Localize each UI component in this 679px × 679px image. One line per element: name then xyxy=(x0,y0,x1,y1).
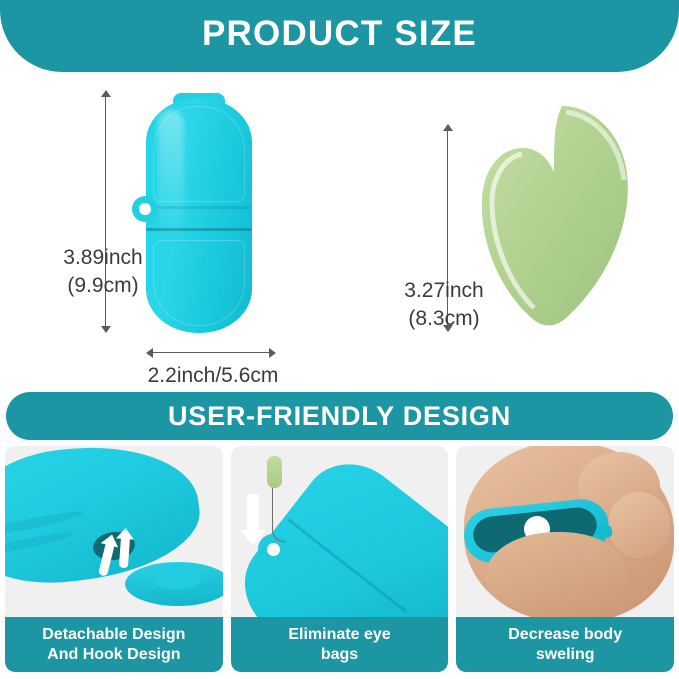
stone-height-inch: 3.27inch xyxy=(404,279,483,302)
caption-line-2: bags xyxy=(321,646,358,663)
feature-card-caption: Eliminate eye bags xyxy=(231,617,449,672)
feature-card-caption: Detachable Design And Hook Design xyxy=(5,617,223,672)
arrow-head-right-icon xyxy=(269,348,276,358)
detachable-design-photo xyxy=(5,446,223,617)
feature-card-caption: Decrease body sweling xyxy=(456,617,674,672)
arrow-head-down-icon xyxy=(101,326,111,333)
down-arrow-icon xyxy=(247,494,259,532)
infographic-page: PRODUCT SIZE 3.89inch (9.9cm) xyxy=(0,0,679,679)
case-width-label: 2.2inch/5.6cm xyxy=(108,362,318,390)
decrease-body-swelling-photo xyxy=(456,446,674,617)
finger xyxy=(608,492,670,558)
capsule-highlight xyxy=(158,110,184,240)
stone-height-cm: (8.3cm) xyxy=(368,305,520,333)
case-width-arrow xyxy=(146,347,276,358)
feature-card-eye-bags[interactable]: Eliminate eye bags xyxy=(231,446,449,672)
hook-wire-icon xyxy=(272,480,286,542)
caption-line-2: sweling xyxy=(536,646,595,663)
case-height-label: 3.89inch (9.9cm) xyxy=(24,244,182,299)
case-height-inch: 3.89inch xyxy=(63,246,142,269)
user-friendly-design-banner: USER-FRIENDLY DESIGN xyxy=(6,392,673,440)
detached-cap-knob xyxy=(153,564,201,590)
caption-line-1: Eliminate eye xyxy=(288,626,390,643)
product-size-section: 3.89inch (9.9cm) xyxy=(0,72,679,390)
product-size-banner: PRODUCT SIZE xyxy=(0,0,679,72)
green-stone xyxy=(267,456,282,488)
eliminate-eye-bags-photo xyxy=(231,446,449,617)
arrow-shaft xyxy=(150,352,272,353)
caption-line-1: Detachable Design xyxy=(42,626,185,643)
stone-height-label: 3.27inch (8.3cm) xyxy=(368,277,520,332)
feature-cards: Detachable Design And Hook Design Elimin… xyxy=(0,446,679,679)
caption-line-1: Decrease body xyxy=(508,626,622,643)
feature-card-body-swelling[interactable]: Decrease body sweling xyxy=(456,446,674,672)
case-height-cm: (9.9cm) xyxy=(24,272,182,300)
product-size-banner-title: PRODUCT SIZE xyxy=(202,16,477,57)
user-friendly-design-banner-title: USER-FRIENDLY DESIGN xyxy=(168,403,511,430)
caption-line-2: And Hook Design xyxy=(47,646,180,663)
feature-card-detachable[interactable]: Detachable Design And Hook Design xyxy=(5,446,223,672)
thumb xyxy=(486,532,626,617)
capsule-hook-loop-icon xyxy=(132,196,158,222)
